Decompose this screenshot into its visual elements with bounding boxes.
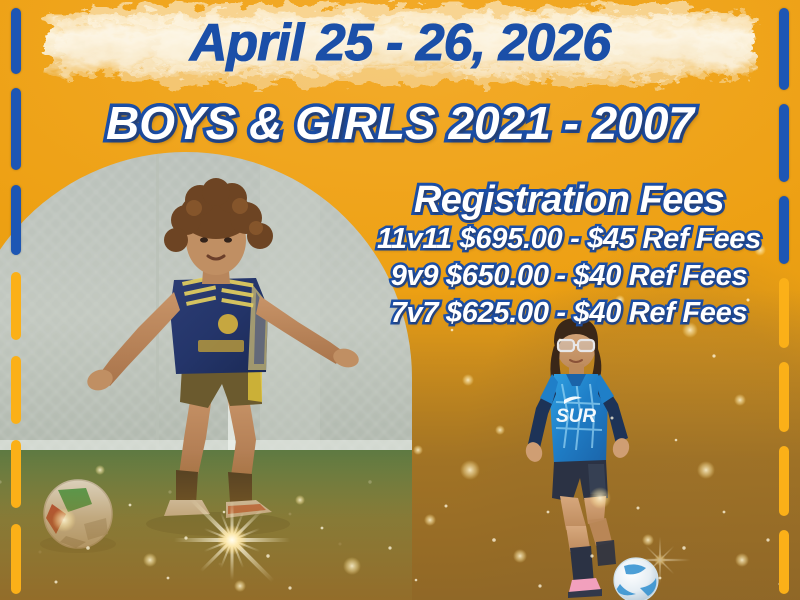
fee-line-11v11: 11v11 $695.00 - $45 Ref Fees [360, 221, 778, 258]
event-date-title: April 25 - 26, 2026 [0, 13, 800, 73]
age-groups-title: BOYS & GIRLS 2021 - 2007 [0, 96, 800, 150]
left-photo-boy-player [0, 152, 412, 600]
soccer-tournament-poster: SUR [0, 0, 800, 600]
fee-line-9v9: 9v9 $650.00 - $40 Ref Fees [360, 258, 778, 295]
fee-line-7v7: 7v7 $625.00 - $40 Ref Fees [360, 295, 778, 332]
registration-fees-block: Registration Fees 11v11 $695.00 - $45 Re… [360, 180, 778, 332]
right-photo-girl-player: SUR [488, 312, 664, 600]
left-photo-bottom-fade [0, 450, 412, 600]
svg-text:SUR: SUR [556, 406, 596, 427]
registration-fees-heading: Registration Fees [360, 180, 778, 221]
